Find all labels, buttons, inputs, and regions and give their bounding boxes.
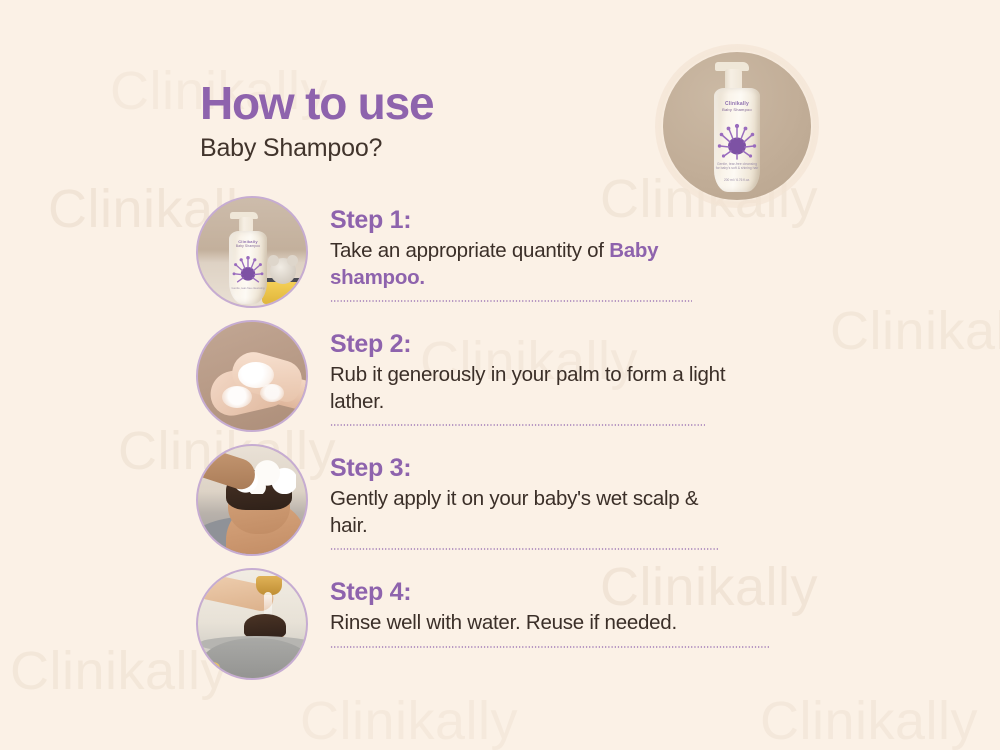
hero-product-circle: Clinikally Baby Shampoo: [655, 44, 819, 208]
step-2-text: Step 2: Rub it generously in your palm t…: [330, 320, 816, 426]
bottle-nozzle-icon: [715, 62, 749, 71]
step-4-description: Rinse well with water. Reuse if needed.: [330, 610, 800, 637]
step-1-divider: [330, 300, 692, 302]
step-1-text: Step 1: Take an appropriate quantity of …: [330, 196, 816, 302]
bottle-body-icon: Clinikally Baby Shampoo: [714, 88, 760, 192]
step-row: Step 3: Gently apply it on your baby's w…: [196, 444, 816, 560]
step-row: Clinikally Baby Shampoo: [196, 196, 816, 312]
step-row: Step 2: Rub it generously in your palm t…: [196, 320, 816, 436]
step-row: Step 4: Rinse well with water. Reuse if …: [196, 568, 816, 680]
page-title: How to use: [200, 80, 433, 128]
how-to-use-infographic: ClinikallyClinikallyClinikallyClinikally…: [0, 0, 1000, 750]
step-4-photo: [198, 570, 306, 678]
step-4-label: Step 4:: [330, 578, 816, 607]
bottle-neck-icon: [725, 69, 742, 91]
step-1-photo: Clinikally Baby Shampoo: [198, 198, 306, 306]
page-subtitle: Baby Shampoo?: [200, 134, 433, 163]
bottle-foot-line-2: for baby's soft & shining hair: [716, 166, 759, 170]
step-1-description-plain: Take an appropriate quantity of: [330, 239, 609, 262]
bottle-brand-text: Clinikally Baby Shampoo: [714, 101, 760, 112]
step-2-thumbnail: [196, 320, 308, 432]
step-3-photo: [198, 446, 306, 554]
step-2-description: Rub it generously in your palm to form a…: [330, 362, 730, 415]
step-3-text: Step 3: Gently apply it on your baby's w…: [330, 444, 816, 550]
bottle-foot-line-1: Gentle, tear-free cleansing: [717, 162, 757, 166]
baby-hair-icon: [244, 614, 286, 638]
step-4-thumbnail: [196, 568, 308, 680]
step-3-label: Step 3:: [330, 454, 816, 483]
watermark-text: Clinikally: [760, 690, 978, 750]
lavender-flower-icon: [717, 120, 757, 160]
watermark-text: Clinikally: [300, 690, 518, 750]
watermark-text: Clinikally: [830, 300, 1000, 362]
steps-list: Clinikally Baby Shampoo: [196, 196, 816, 688]
bottle-volume-text: 200 ml / 6.76 fl.oz.: [714, 178, 760, 182]
yellow-block-icon: [262, 282, 302, 304]
hero-circle-background: Clinikally Baby Shampoo: [663, 52, 811, 200]
foam-icon: [222, 386, 252, 408]
step-3-divider: [330, 548, 718, 550]
step-2-divider: [330, 424, 705, 426]
step-2-label: Step 2:: [330, 330, 816, 359]
step-3-thumbnail: [196, 444, 308, 556]
bottle-footer-text: Gentle, tear-free cleansing for baby's s…: [714, 162, 760, 171]
baby-shampoo-bottle-illustration: Clinikally Baby Shampoo: [709, 62, 765, 192]
page-title-block: How to use Baby Shampoo?: [200, 80, 433, 163]
step-2-photo: [198, 322, 306, 430]
rubber-duck-icon: [206, 662, 220, 674]
step-1-description: Take an appropriate quantity of Baby sha…: [330, 238, 730, 291]
foam-icon: [260, 384, 284, 402]
bottle-brand-line: Clinikally: [725, 101, 749, 107]
step-1-thumbnail: Clinikally Baby Shampoo: [196, 196, 308, 308]
step-4-divider: [330, 646, 770, 648]
teddy-bear-toy-icon: [270, 258, 296, 284]
step-4-text: Step 4: Rinse well with water. Reuse if …: [330, 568, 816, 648]
step-3-description: Gently apply it on your baby's wet scalp…: [330, 486, 730, 539]
bottle-brand-sub: Baby Shampoo: [714, 107, 760, 112]
bottle-volume-value: 200 ml / 6.76 fl.oz.: [724, 178, 750, 182]
step-1-label: Step 1:: [330, 206, 816, 235]
